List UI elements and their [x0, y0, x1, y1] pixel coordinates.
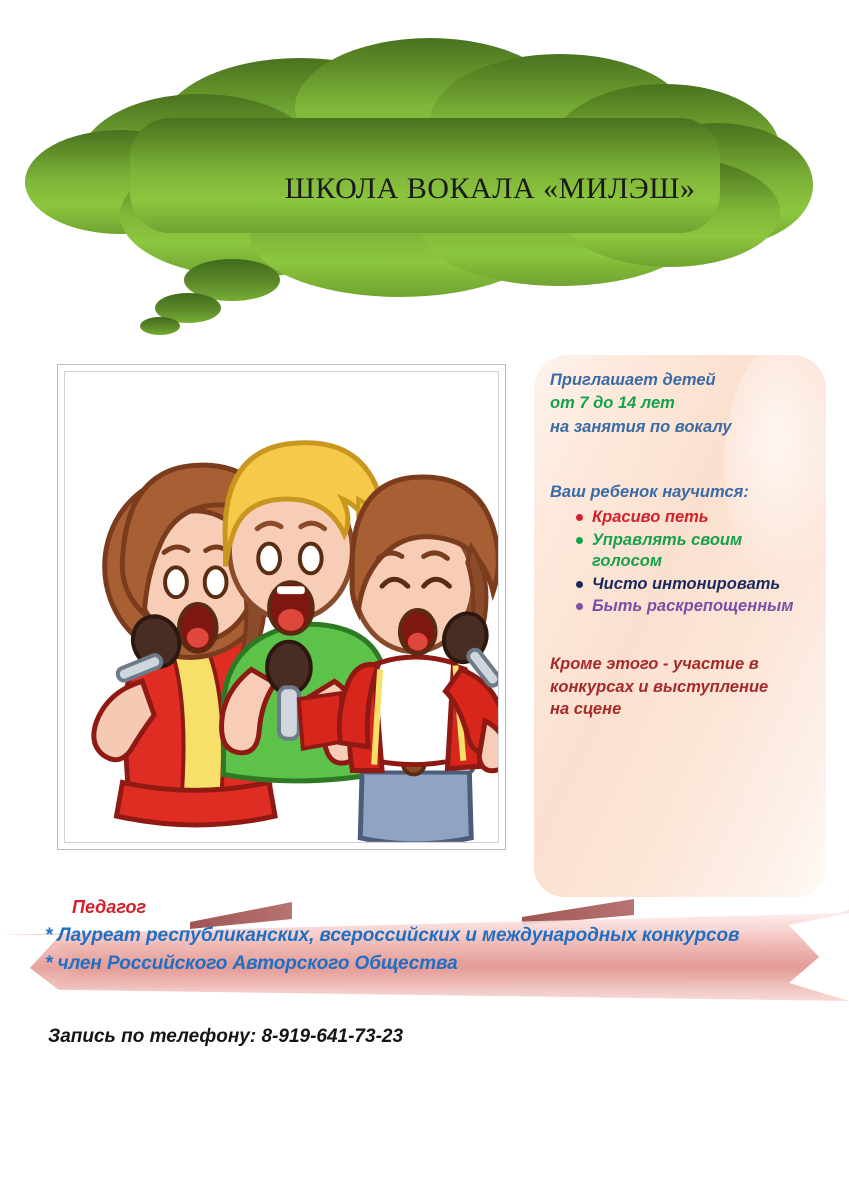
invite-line-1: Приглашает детей [550, 369, 814, 392]
page-title: ШКОЛА ВОКАЛА «МИЛЭШ» [170, 172, 810, 206]
extra-note-line-3: на сцене [550, 698, 814, 720]
picture-frame-inner [64, 371, 499, 843]
bullet-dot [576, 603, 583, 610]
list-item: Управлять своим голосом [576, 530, 814, 573]
list-item: Чисто интонировать [576, 574, 814, 595]
credit-line: * Лауреат республиканских, всероссийских… [45, 925, 739, 947]
extra-note-line-2: конкурсах и выступление [550, 676, 814, 698]
singing-children-illustration [65, 372, 498, 842]
credit-line: * член Российского Авторского Общества [45, 953, 458, 975]
thought-bubble-small [140, 317, 180, 335]
learn-heading: Ваш ребенок научится: [550, 483, 814, 502]
bullet-dot [576, 537, 583, 544]
list-item: Красиво петь [576, 507, 814, 528]
list-item: Быть раскрепощенным [576, 596, 814, 617]
poster-canvas: ШКОЛА ВОКАЛА «МИЛЭШ» [0, 0, 849, 1200]
phone-line: Запись по телефону: 8-919-641-73-23 [48, 1026, 403, 1048]
thought-cloud-group: ШКОЛА ВОКАЛА «МИЛЭШ» [0, 0, 849, 345]
benefit-text: Чисто интонировать [592, 575, 780, 593]
cloud-body [25, 38, 813, 297]
picture-frame [57, 364, 506, 850]
info-panel: Приглашает детей от 7 до 14 лет на занят… [534, 355, 826, 897]
benefit-text: Управлять своим голосом [592, 531, 742, 570]
invite-line-2: от 7 до 14 лет [550, 392, 814, 415]
extra-note: Кроме этого - участие в конкурсах и выст… [550, 653, 814, 719]
bullet-dot [576, 581, 583, 588]
benefit-list: Красиво петь Управлять своим голосом Чис… [550, 507, 814, 617]
panel-content: Приглашает детей от 7 до 14 лет на занят… [550, 369, 814, 720]
benefit-text: Быть раскрепощенным [592, 597, 793, 615]
bullet-dot [576, 514, 583, 521]
extra-note-line-1: Кроме этого - участие в [550, 653, 814, 675]
teacher-label: Педагог [72, 897, 146, 918]
benefit-text: Красиво петь [592, 508, 709, 526]
invite-line-3: на занятия по вокалу [550, 416, 814, 439]
